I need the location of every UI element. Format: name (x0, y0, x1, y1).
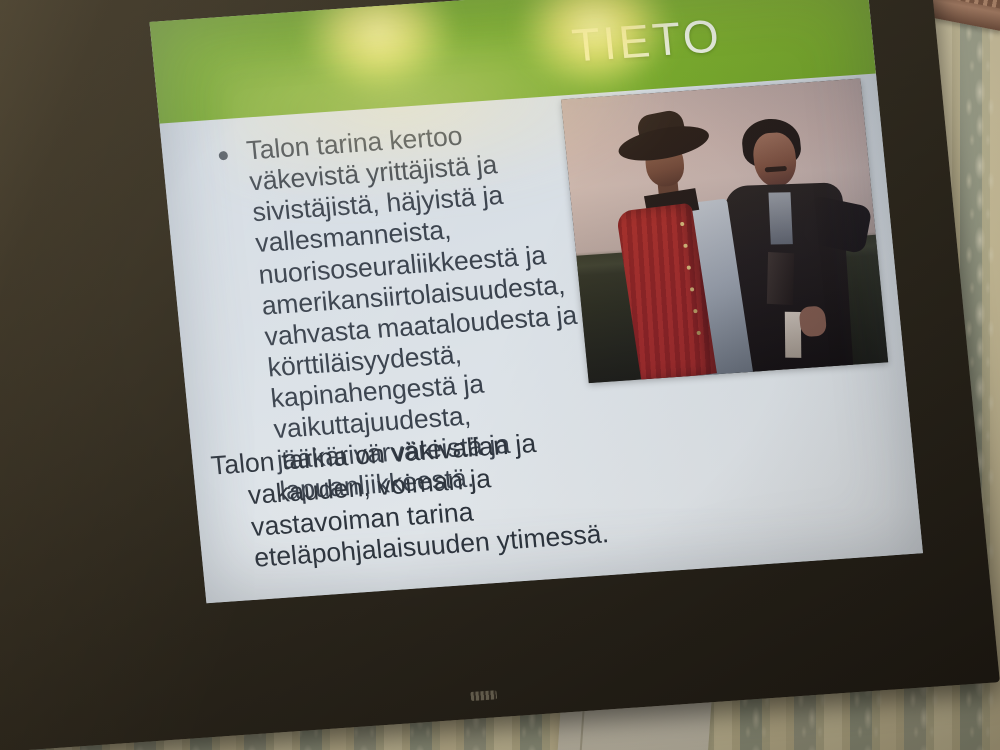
bullet-point-icon (218, 151, 228, 161)
tv-brand-logo-icon (470, 690, 497, 701)
slide-photograph (561, 79, 888, 384)
slide-title: TIETO (570, 8, 725, 72)
television: TIETO Talon tarina kertoo väkevistä yrit… (0, 0, 1000, 750)
presentation-slide: TIETO Talon tarina kertoo väkevistä yrit… (149, 0, 923, 603)
room-scene: TIETO Talon tarina kertoo väkevistä yrit… (0, 0, 1000, 750)
photo-color-grade (561, 79, 888, 384)
closing-paragraph-text: Talon tarina on väkivallan ja vakauden, … (210, 422, 628, 577)
tv-screen: TIETO Talon tarina kertoo väkevistä yrit… (149, 0, 923, 603)
